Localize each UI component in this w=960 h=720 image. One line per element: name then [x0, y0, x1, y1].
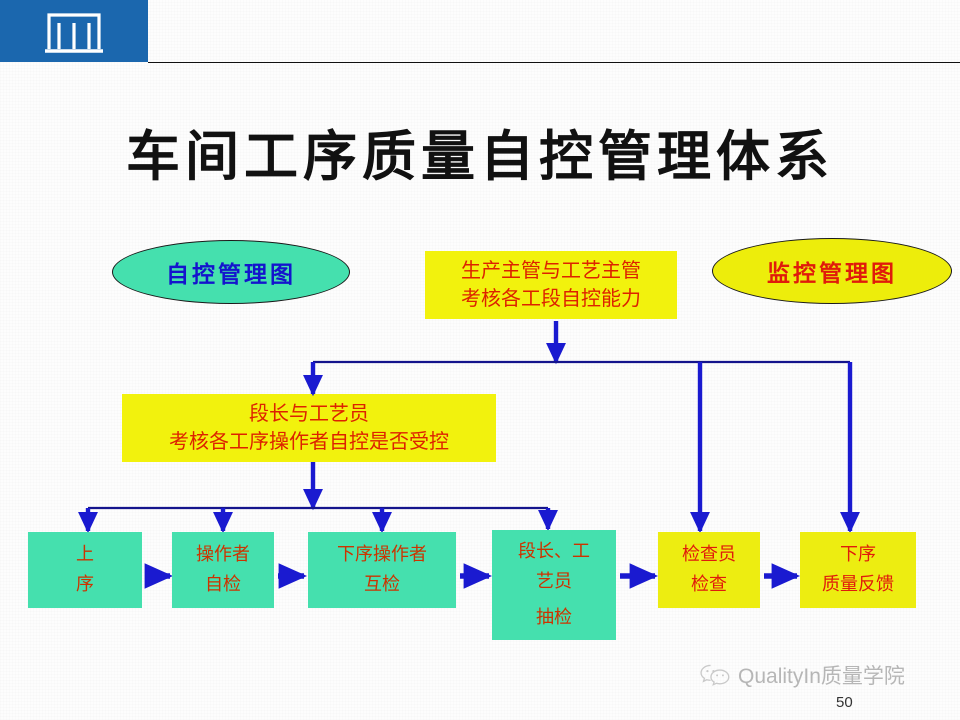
legend-ellipse-self-control: 自控管理图	[112, 240, 350, 304]
flow-node-5-line1: 下序	[840, 540, 876, 570]
flow-node-1-line1: 操作者	[196, 540, 250, 570]
flow-node-0-line1: 上	[76, 540, 94, 570]
institution-logo-icon	[43, 9, 105, 53]
flow-node-4-line2: 检查	[691, 570, 727, 600]
box-section-chief: 段长与工艺员 考核各工序操作者自控是否受控	[122, 394, 496, 462]
box-production-supervisor: 生产主管与工艺主管 考核各工段自控能力	[425, 251, 677, 319]
wechat-icon	[700, 663, 730, 687]
flow-node-2-line2: 互检	[364, 570, 400, 600]
box-top-line1: 生产主管与工艺主管	[461, 257, 641, 285]
box-mid-line1: 段长与工艺员	[249, 400, 369, 428]
flow-node-downstream-quality-feedback: 下序 质量反馈	[800, 532, 916, 608]
box-top-line2: 考核各工段自控能力	[461, 285, 641, 313]
footer-brand: QualityIn质量学院	[700, 660, 905, 690]
flow-node-chief-sampling-check: 段长、工 艺员 抽检	[492, 530, 616, 640]
flow-node-2-line1: 下序操作者	[337, 540, 427, 570]
flow-node-3-line2: 艺员	[536, 567, 572, 597]
flow-node-1-line2: 自检	[205, 570, 241, 600]
logo-block	[0, 0, 148, 62]
page-number: 50	[836, 694, 853, 711]
footer-brand-label: QualityIn质量学院	[738, 660, 905, 690]
connector-lines	[0, 0, 960, 720]
legend-ellipse-monitoring: 监控管理图	[712, 238, 952, 304]
flow-node-3-line1: 段长、工	[518, 537, 590, 567]
page-title: 车间工序质量自控管理体系	[0, 112, 960, 191]
slide-canvas: 车间工序质量自控管理体系 自控管理图 监控管理图 生产主管与工艺主管 考核各工段…	[0, 0, 960, 720]
flow-node-operator-self-check: 操作者 自检	[172, 532, 274, 608]
box-mid-line2: 考核各工序操作者自控是否受控	[169, 428, 449, 456]
flow-node-0-line2: 序	[76, 570, 94, 600]
flow-node-upstream-process: 上 序	[28, 532, 142, 608]
flow-node-4-line1: 检查员	[682, 540, 736, 570]
flow-node-downstream-mutual-check: 下序操作者 互检	[308, 532, 456, 608]
flow-node-inspector-check: 检查员 检查	[658, 532, 760, 608]
header-divider	[148, 62, 960, 63]
flow-node-3-line3: 抽检	[536, 603, 572, 633]
flow-node-5-line2: 质量反馈	[822, 570, 894, 600]
